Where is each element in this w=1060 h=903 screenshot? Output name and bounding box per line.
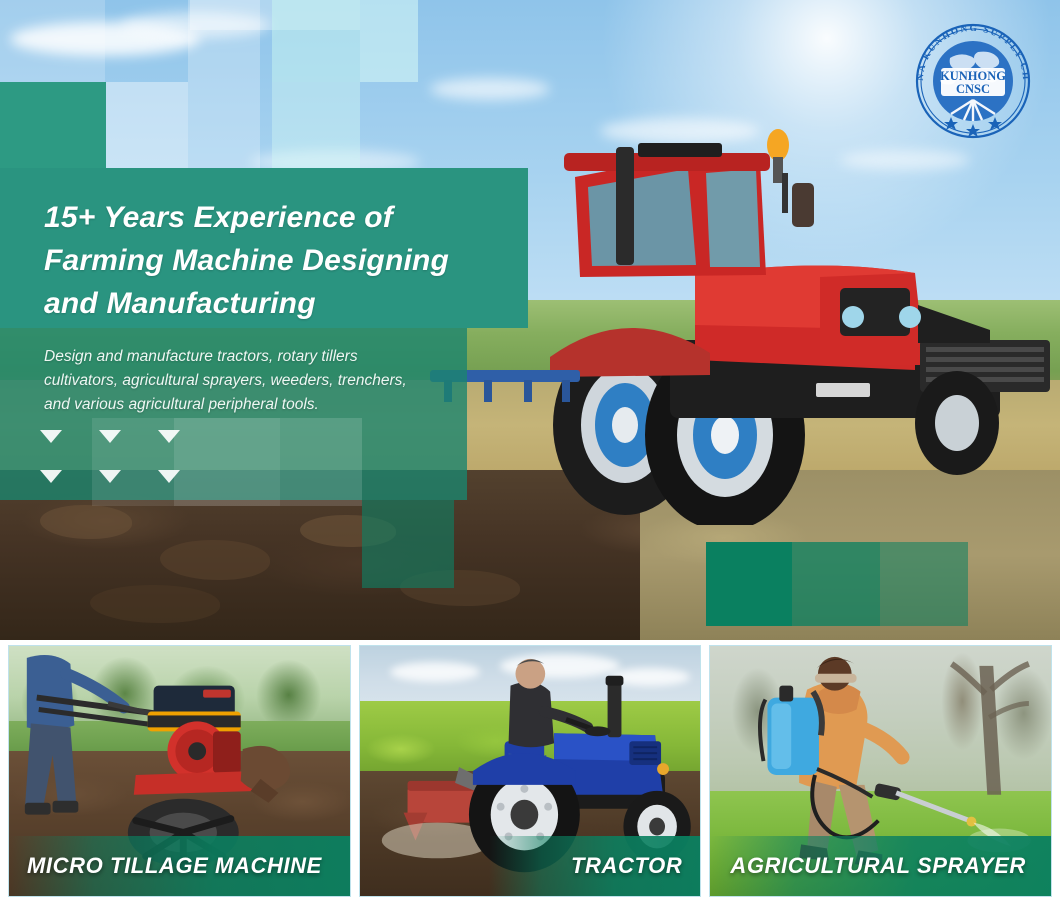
product-card-row: MICRO TILLAGE MACHINE (0, 645, 1060, 903)
green-accent-block (0, 82, 106, 168)
decor-block (105, 82, 188, 168)
decor-block (280, 418, 362, 506)
decor-block (272, 82, 360, 168)
card-label-micro-tillage: MICRO TILLAGE MACHINE (27, 836, 322, 896)
triangle-down-icon (40, 470, 62, 483)
green-accent-block (792, 542, 880, 626)
triangle-down-icon (158, 430, 180, 443)
hero-section: 15+ Years Experience of Farming Machine … (0, 0, 1060, 640)
decor-block (174, 418, 280, 506)
logo-line2: CNSC (956, 82, 990, 96)
headline-line: 15+ Years Experience of (44, 196, 514, 239)
logo-line1: KUNHONG (940, 69, 1006, 83)
green-accent-block (706, 542, 792, 626)
subcopy-line: cultivators, agricultural sprayers, weed… (44, 369, 464, 393)
arrow-row (40, 470, 180, 483)
arrow-decoration-group (40, 430, 180, 510)
product-card-sprayer[interactable]: AGRICULTURAL SPRAYER (709, 645, 1052, 897)
triangle-down-icon (40, 430, 62, 443)
promo-banner: 15+ Years Experience of Farming Machine … (0, 0, 1060, 903)
arrow-row (40, 430, 180, 443)
triangle-down-icon (99, 470, 121, 483)
headline-line: and Manufacturing (44, 282, 514, 325)
triangle-down-icon (158, 470, 180, 483)
decor-block (272, 0, 360, 82)
subcopy-line: and various agricultural peripheral tool… (44, 393, 464, 417)
company-logo[interactable]: KUNHONG CNSC CHINA KUNHONG SUPPLY CHAIN (906, 14, 1040, 148)
decor-block (0, 0, 105, 82)
cloud-shape (430, 78, 550, 100)
headline-line: Farming Machine Designing (44, 239, 514, 282)
card-label-sprayer: AGRICULTURAL SPRAYER (730, 836, 1026, 896)
red-tractor-illustration (520, 125, 1060, 525)
subcopy-line: Design and manufacture tractors, rotary … (44, 345, 464, 369)
green-accent-block (880, 542, 968, 626)
product-card-micro-tillage[interactable]: MICRO TILLAGE MACHINE (8, 645, 351, 897)
subtitle-text: Design and manufacture tractors, rotary … (44, 345, 464, 417)
card-label-tractor: TRACTOR (571, 836, 682, 896)
decor-block (360, 0, 418, 82)
decor-block (362, 500, 454, 588)
triangle-down-icon (99, 430, 121, 443)
product-card-tractor[interactable]: TRACTOR (359, 645, 702, 897)
page-title: 15+ Years Experience of Farming Machine … (44, 196, 514, 325)
